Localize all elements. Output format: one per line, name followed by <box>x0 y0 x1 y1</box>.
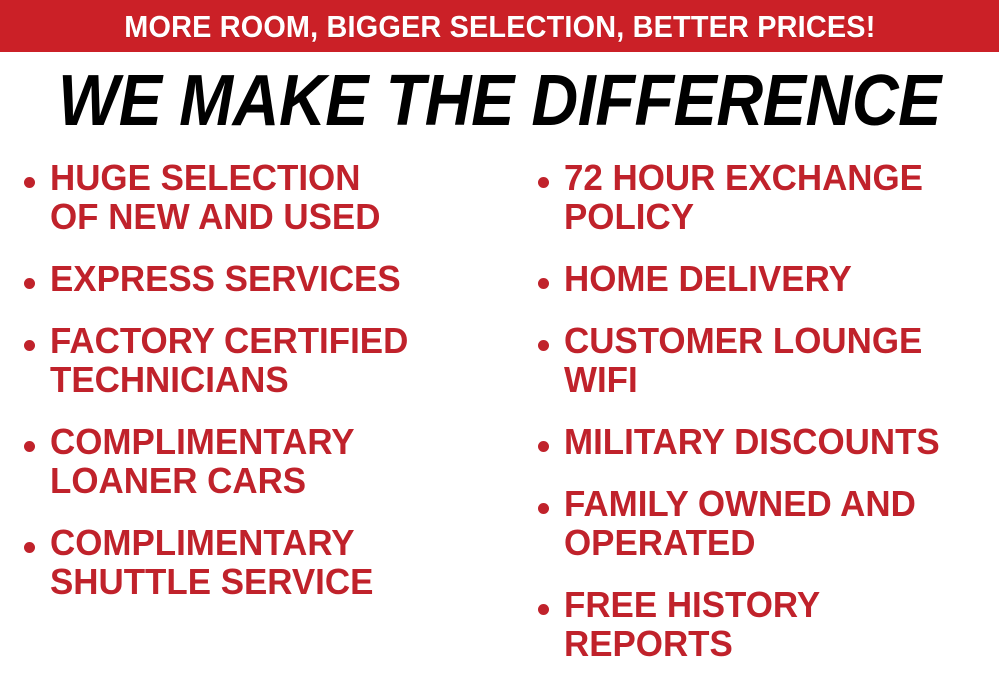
list-item-label: FREE HISTORY REPORTS <box>564 585 986 663</box>
list-item-label: MILITARY DISCOUNTS <box>564 422 986 461</box>
list-item-label: COMPLIMENTARY LOANER CARS <box>50 422 498 500</box>
list-item-label: FAMILY OWNED AND OPERATED <box>564 484 986 562</box>
list-item-label: FACTORY CERTIFIED TECHNICIANS <box>50 321 498 399</box>
list-item: 72 HOUR EXCHANGE POLICY <box>530 158 999 236</box>
list-item-label: HUGE SELECTION OF NEW AND USED <box>50 158 498 236</box>
list-item: MILITARY DISCOUNTS <box>530 422 999 461</box>
list-item-label: COMPLIMENTARY SHUTTLE SERVICE <box>50 523 498 601</box>
features-column-right: 72 HOUR EXCHANGE POLICY HOME DELIVERY CU… <box>512 158 999 686</box>
list-item: COMPLIMENTARY SHUTTLE SERVICE <box>16 523 512 601</box>
advertisement-root: MORE ROOM, BIGGER SELECTION, BETTER PRIC… <box>0 0 999 692</box>
list-item: HOME DELIVERY <box>530 259 999 298</box>
list-item-label: 72 HOUR EXCHANGE POLICY <box>564 158 986 236</box>
list-item: HUGE SELECTION OF NEW AND USED <box>16 158 512 236</box>
list-item-label: CUSTOMER LOUNGE WIFI <box>564 321 986 399</box>
list-item: COMPLIMENTARY LOANER CARS <box>16 422 512 500</box>
banner-headline-text: MORE ROOM, BIGGER SELECTION, BETTER PRIC… <box>124 11 875 42</box>
list-item: FACTORY CERTIFIED TECHNICIANS <box>16 321 512 399</box>
list-item: CUSTOMER LOUNGE WIFI <box>530 321 999 399</box>
list-item: EXPRESS SERVICES <box>16 259 512 298</box>
features-column-left: HUGE SELECTION OF NEW AND USED EXPRESS S… <box>0 158 512 624</box>
list-item: FREE HISTORY REPORTS <box>530 585 999 663</box>
page-title: WE MAKE THE DIFFERENCE <box>58 65 941 137</box>
headline-container: WE MAKE THE DIFFERENCE <box>0 62 999 140</box>
list-item-label: HOME DELIVERY <box>564 259 986 298</box>
list-item: FAMILY OWNED AND OPERATED <box>530 484 999 562</box>
features-columns: HUGE SELECTION OF NEW AND USED EXPRESS S… <box>0 158 999 692</box>
list-item-label: EXPRESS SERVICES <box>50 259 498 298</box>
top-banner: MORE ROOM, BIGGER SELECTION, BETTER PRIC… <box>0 0 999 52</box>
